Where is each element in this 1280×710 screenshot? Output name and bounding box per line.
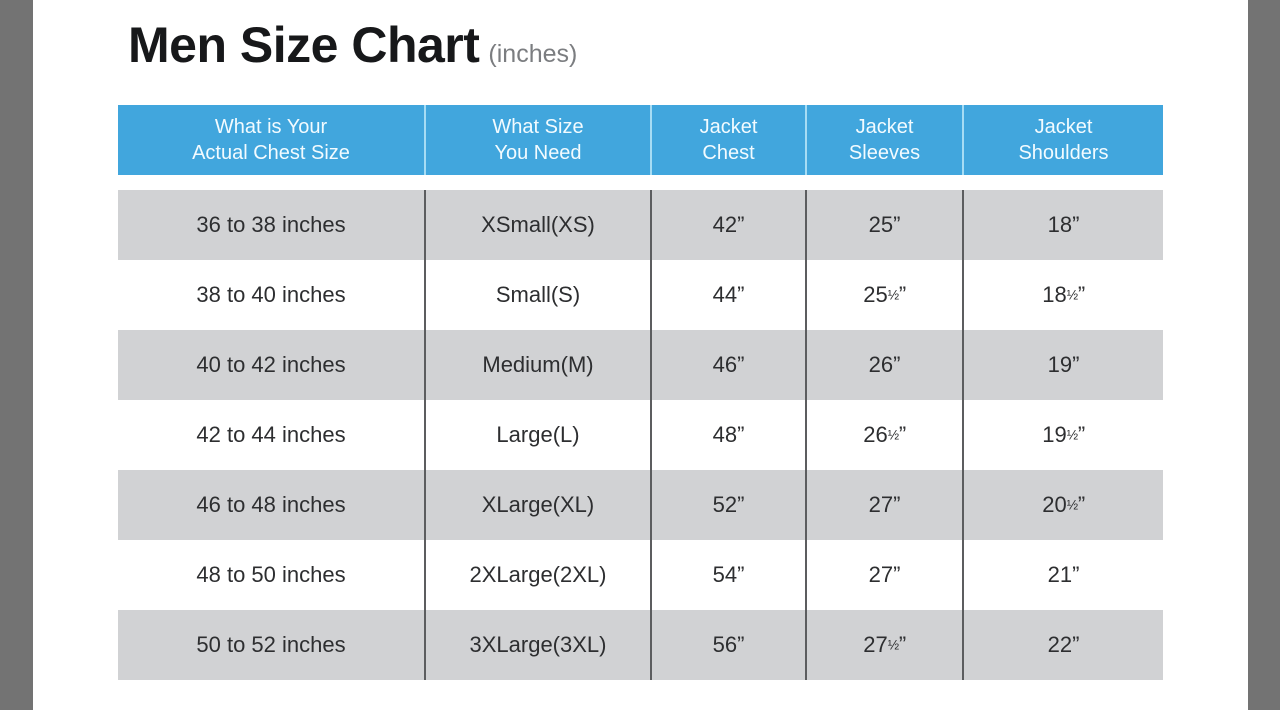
cell-size-you-need: XLarge(XL) bbox=[425, 470, 651, 540]
column-header-line2: Sleeves bbox=[807, 140, 962, 166]
cell-actual-chest-size: 40 to 42 inches bbox=[118, 330, 425, 400]
page-title-units: (inches) bbox=[488, 42, 577, 67]
cell-jacket-sleeves: 27” bbox=[806, 470, 963, 540]
cell-jacket-chest: 48” bbox=[651, 400, 806, 470]
cell-jacket-chest: 44” bbox=[651, 260, 806, 330]
table-row: 36 to 38 inchesXSmall(XS)42”25”18” bbox=[118, 190, 1163, 260]
column-header-line1: What is Your bbox=[118, 114, 424, 140]
cell-actual-chest-size: 46 to 48 inches bbox=[118, 470, 425, 540]
column-header-line1: Jacket bbox=[964, 114, 1163, 140]
table-row: 50 to 52 inches3XLarge(3XL)56”27½”22” bbox=[118, 610, 1163, 680]
cell-actual-chest-size: 42 to 44 inches bbox=[118, 400, 425, 470]
column-header-jacket-chest: Jacket Chest bbox=[651, 105, 806, 175]
letterbox-bar-left bbox=[0, 0, 33, 710]
cell-actual-chest-size: 38 to 40 inches bbox=[118, 260, 425, 330]
cell-size-you-need: 2XLarge(2XL) bbox=[425, 540, 651, 610]
size-chart-table: What is Your Actual Chest Size What Size… bbox=[118, 105, 1163, 680]
column-header-line1: Jacket bbox=[652, 114, 805, 140]
column-header-actual-chest-size: What is Your Actual Chest Size bbox=[118, 105, 425, 175]
table-header-row: What is Your Actual Chest Size What Size… bbox=[118, 105, 1163, 175]
page-title-main: Men Size Chart bbox=[128, 20, 479, 70]
table-body: 36 to 38 inchesXSmall(XS)42”25”18”38 to … bbox=[118, 175, 1163, 680]
cell-jacket-sleeves: 26½” bbox=[806, 400, 963, 470]
cell-jacket-chest: 54” bbox=[651, 540, 806, 610]
cell-actual-chest-size: 36 to 38 inches bbox=[118, 190, 425, 260]
column-header-line1: Jacket bbox=[807, 114, 962, 140]
column-header-jacket-shoulders: Jacket Shoulders bbox=[963, 105, 1163, 175]
cell-jacket-shoulders: 19½” bbox=[963, 400, 1163, 470]
table-row: 48 to 50 inches2XLarge(2XL)54”27”21” bbox=[118, 540, 1163, 610]
table-row: 46 to 48 inchesXLarge(XL)52”27”20½” bbox=[118, 470, 1163, 540]
cell-size-you-need: 3XLarge(3XL) bbox=[425, 610, 651, 680]
slide-canvas: Men Size Chart (inches) What is Your Act… bbox=[33, 0, 1248, 710]
page-title: Men Size Chart (inches) bbox=[128, 20, 577, 70]
cell-size-you-need: Small(S) bbox=[425, 260, 651, 330]
cell-jacket-shoulders: 19” bbox=[963, 330, 1163, 400]
cell-size-you-need: Medium(M) bbox=[425, 330, 651, 400]
cell-size-you-need: XSmall(XS) bbox=[425, 190, 651, 260]
cell-jacket-chest: 42” bbox=[651, 190, 806, 260]
column-header-line1: What Size bbox=[426, 114, 650, 140]
cell-jacket-shoulders: 21” bbox=[963, 540, 1163, 610]
cell-size-you-need: Large(L) bbox=[425, 400, 651, 470]
column-header-line2: Chest bbox=[652, 140, 805, 166]
slide-screen: Men Size Chart (inches) What is Your Act… bbox=[0, 0, 1280, 710]
cell-jacket-chest: 52” bbox=[651, 470, 806, 540]
column-header-size-you-need: What Size You Need bbox=[425, 105, 651, 175]
cell-jacket-chest: 56” bbox=[651, 610, 806, 680]
cell-jacket-sleeves: 25½” bbox=[806, 260, 963, 330]
column-header-jacket-sleeves: Jacket Sleeves bbox=[806, 105, 963, 175]
column-header-line2: You Need bbox=[426, 140, 650, 166]
cell-jacket-shoulders: 22” bbox=[963, 610, 1163, 680]
cell-jacket-shoulders: 20½” bbox=[963, 470, 1163, 540]
letterbox-bar-right bbox=[1248, 0, 1280, 710]
cell-actual-chest-size: 48 to 50 inches bbox=[118, 540, 425, 610]
cell-jacket-chest: 46” bbox=[651, 330, 806, 400]
cell-jacket-sleeves: 25” bbox=[806, 190, 963, 260]
cell-jacket-shoulders: 18” bbox=[963, 190, 1163, 260]
cell-jacket-sleeves: 26” bbox=[806, 330, 963, 400]
cell-actual-chest-size: 50 to 52 inches bbox=[118, 610, 425, 680]
cell-jacket-shoulders: 18½” bbox=[963, 260, 1163, 330]
column-header-line2: Actual Chest Size bbox=[118, 140, 424, 166]
table-row: 42 to 44 inchesLarge(L)48”26½”19½” bbox=[118, 400, 1163, 470]
table-row: 40 to 42 inchesMedium(M)46”26”19” bbox=[118, 330, 1163, 400]
header-body-gap-cell bbox=[118, 175, 1163, 190]
table-row: 38 to 40 inchesSmall(S)44”25½”18½” bbox=[118, 260, 1163, 330]
column-header-line2: Shoulders bbox=[964, 140, 1163, 166]
table-header: What is Your Actual Chest Size What Size… bbox=[118, 105, 1163, 175]
cell-jacket-sleeves: 27” bbox=[806, 540, 963, 610]
header-body-gap bbox=[118, 175, 1163, 190]
cell-jacket-sleeves: 27½” bbox=[806, 610, 963, 680]
